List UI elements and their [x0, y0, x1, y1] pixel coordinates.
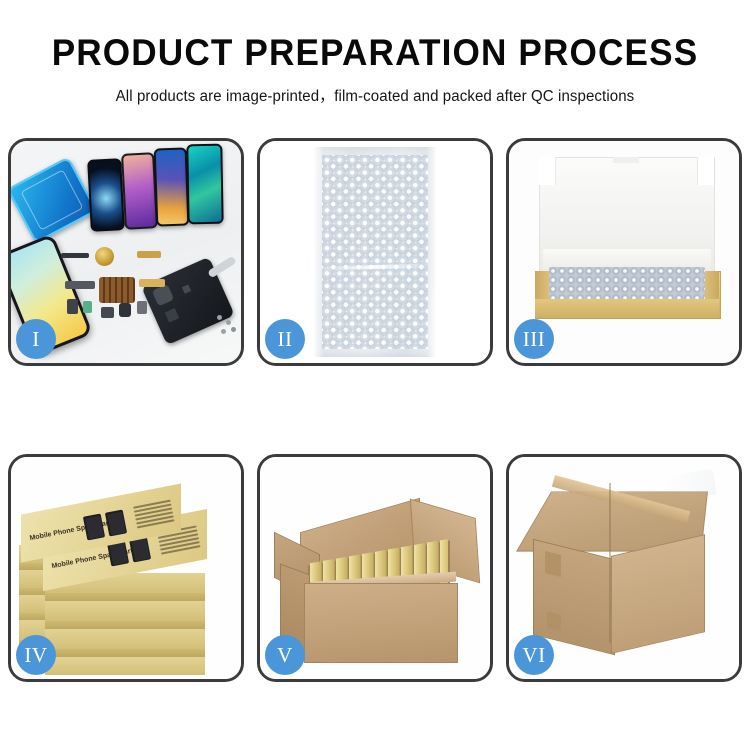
- spare-part-small-icon: [119, 303, 131, 317]
- mailer-front-panel: [535, 299, 719, 317]
- carton-corner-seam: [609, 483, 611, 643]
- packing-tape-patch: [547, 611, 561, 630]
- spare-part-chip-icon: [99, 277, 135, 303]
- carton-front-panel: [304, 583, 458, 663]
- step-badge-3: III: [514, 319, 554, 359]
- page-title: PRODUCT PREPARATION PROCESS: [19, 34, 732, 71]
- box-edge-shadow: [45, 621, 205, 629]
- spare-part-flex-cable-icon: [139, 279, 165, 287]
- box-edge-shadow: [45, 593, 205, 601]
- mailer-lid-notch-right: [697, 157, 714, 185]
- phone-screen-icon: [121, 152, 158, 230]
- spare-part-flex-cable-icon: [65, 281, 95, 289]
- spare-part-small-icon: [101, 307, 114, 318]
- mailer-lid-tab: [613, 157, 639, 163]
- spare-part-small-icon: [67, 299, 78, 314]
- header: PRODUCT PREPARATION PROCESS All products…: [0, 0, 750, 106]
- wrap-edge-right: [427, 147, 436, 357]
- product-preparation-infographic: PRODUCT PREPARATION PROCESS All products…: [0, 0, 750, 750]
- step-badge-4: IV: [16, 635, 56, 675]
- phone-screen-icon: [186, 144, 223, 225]
- step-badge-2: II: [265, 319, 305, 359]
- step-panel-2: II: [257, 138, 493, 366]
- spare-part-small-icon: [83, 301, 92, 313]
- box-edge-shadow: [45, 649, 205, 657]
- phone-screen-icon: [154, 147, 190, 226]
- spare-part-flex-cable-icon: [61, 253, 89, 258]
- page-subtitle: All products are image-printed，film-coat…: [11, 84, 739, 106]
- carton-right-panel: [611, 534, 705, 654]
- step-panel-1: I: [8, 138, 244, 366]
- packing-tape-patch: [545, 551, 561, 577]
- box-edge: [45, 629, 205, 649]
- steps-grid: I II: [8, 138, 742, 683]
- step-panel-4: Mobile Phone Spare Parts Mobile Phone Sp…: [8, 454, 244, 682]
- phone-screen-blue-icon: [11, 156, 97, 244]
- bubble-wrapped-contents: [549, 267, 705, 301]
- box-edge: [45, 601, 205, 621]
- spare-part-screws-icon: [217, 315, 222, 320]
- box-edge: [45, 657, 205, 675]
- phone-screen-icon: [87, 158, 125, 232]
- bubble-texture: [322, 155, 428, 349]
- step-panel-3: III: [506, 138, 742, 366]
- box-stack: Mobile Phone Spare Parts Mobile Phone Sp…: [19, 477, 235, 669]
- mailer-lid-notch-left: [539, 157, 556, 185]
- spare-part-small-icon: [137, 301, 147, 314]
- spare-part-flex-cable-icon: [137, 251, 161, 258]
- spare-part-coil-icon: [95, 247, 114, 266]
- step-panel-6: VI: [506, 454, 742, 682]
- step-badge-6: VI: [514, 635, 554, 675]
- step-badge-1: I: [16, 319, 56, 359]
- step-badge-5: V: [265, 635, 305, 675]
- step-panel-5: V: [257, 454, 493, 682]
- bubble-wrap-sheet: [314, 147, 436, 357]
